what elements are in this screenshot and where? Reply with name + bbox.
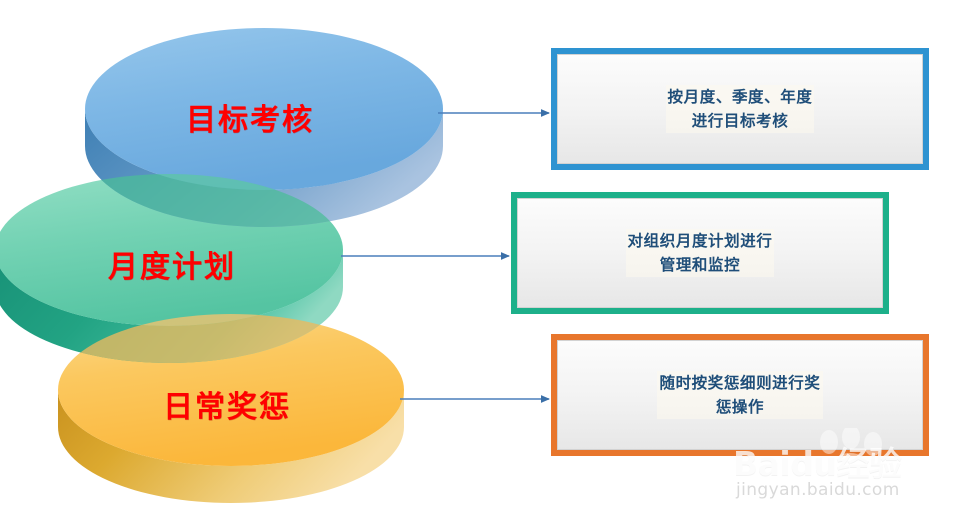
- callout-inner: 对组织月度计划进行 管理和监控: [517, 198, 883, 308]
- callout-text: 对组织月度计划进行 管理和监控: [626, 229, 775, 277]
- callout-line: 对组织月度计划进行: [628, 229, 773, 253]
- callout-line: 惩操作: [659, 395, 820, 419]
- callout-line: 进行目标考核: [668, 109, 813, 133]
- callout-text: 按月度、季度、年度 进行目标考核: [666, 85, 815, 133]
- callout-box-monthly-plan[interactable]: 对组织月度计划进行 管理和监控: [511, 192, 889, 314]
- callout-text: 随时按奖惩细则进行奖 惩操作: [657, 371, 822, 419]
- callout-line: 随时按奖惩细则进行奖: [659, 371, 820, 395]
- callout-box-target-assessment[interactable]: 按月度、季度、年度 进行目标考核: [551, 48, 929, 170]
- callout-inner: 随时按奖惩细则进行奖 惩操作: [557, 340, 923, 450]
- callout-line: 管理和监控: [628, 253, 773, 277]
- callout-inner: 按月度、季度、年度 进行目标考核: [557, 54, 923, 164]
- callout-line: 按月度、季度、年度: [668, 85, 813, 109]
- diagram-canvas: 目标考核 月度计划 日常奖惩 按月度、季度、年度 进行目标考核 对组织月度计: [0, 0, 973, 517]
- callout-box-daily-reward-penalty[interactable]: 随时按奖惩细则进行奖 惩操作: [551, 334, 929, 456]
